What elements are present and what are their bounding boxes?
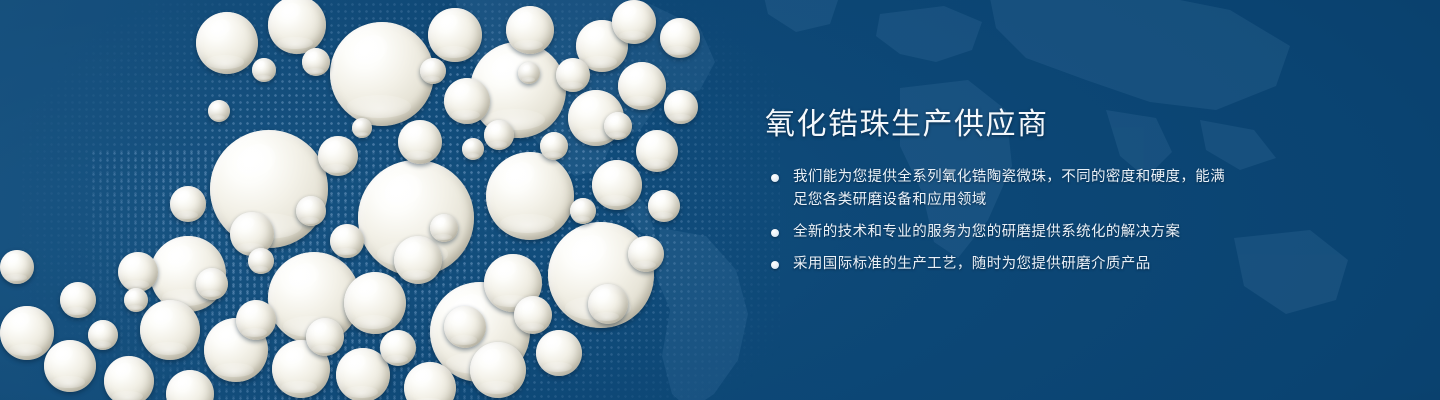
banner-copy: 氧化锆珠生产供应商 我们能为您提供全系列氧化锆陶瓷微珠，不同的密度和硬度，能满足… bbox=[765, 106, 1235, 276]
list-item: 全新的技术和专业的服务为您的研磨提供系统化的解决方案 bbox=[765, 221, 1235, 244]
banner-headline: 氧化锆珠生产供应商 bbox=[765, 106, 1235, 144]
list-item-label: 采用国际标准的生产工艺，随时为您提供研磨介质产品 bbox=[793, 256, 1151, 272]
list-item-label: 我们能为您提供全系列氧化锆陶瓷微珠，不同的密度和硬度，能满足您各类研磨设备和应用… bbox=[793, 169, 1225, 208]
bullet-dot-icon bbox=[771, 229, 779, 237]
bullet-dot-icon bbox=[771, 174, 779, 182]
list-item: 我们能为您提供全系列氧化锆陶瓷微珠，不同的密度和硬度，能满足您各类研磨设备和应用… bbox=[765, 166, 1235, 212]
bullet-dot-icon bbox=[771, 261, 779, 269]
list-item: 采用国际标准的生产工艺，随时为您提供研磨介质产品 bbox=[765, 253, 1235, 276]
banner-feature-list: 我们能为您提供全系列氧化锆陶瓷微珠，不同的密度和硬度，能满足您各类研磨设备和应用… bbox=[765, 166, 1235, 276]
list-item-label: 全新的技术和专业的服务为您的研磨提供系统化的解决方案 bbox=[793, 224, 1180, 240]
hero-banner: 氧化锆珠生产供应商 我们能为您提供全系列氧化锆陶瓷微珠，不同的密度和硬度，能满足… bbox=[0, 0, 1440, 400]
